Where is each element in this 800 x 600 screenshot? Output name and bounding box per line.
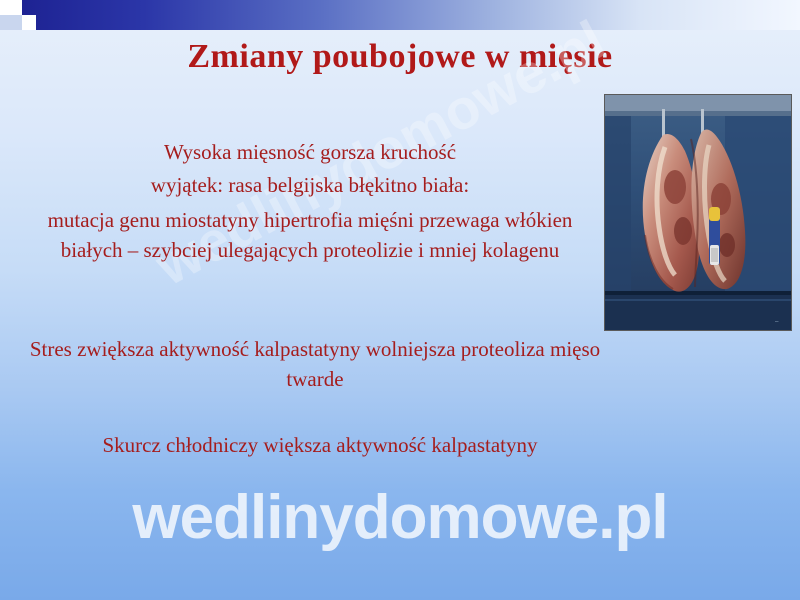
slide-top-decoration-bar: [0, 0, 800, 30]
body-paragraph-3: mutacja genu miostatyny hipertrofia mięś…: [20, 205, 600, 265]
watermark-bottom: wedlinydomowe.pl: [0, 482, 800, 553]
body-paragraph-4: Stres zwiększa aktywność kalpastatyny wo…: [10, 334, 620, 394]
slide-title: Zmiany poubojowe w mięsie: [0, 38, 800, 76]
svg-text:⎯: ⎯: [775, 318, 779, 325]
beef-carcass-photo: ⎯: [604, 94, 792, 331]
decoration-square-white-1: [0, 0, 22, 15]
body-line-1: Wysoka mięsność gorsza kruchość: [20, 137, 600, 167]
slide: Zmiany poubojowe w mięsie wedlinydomowe.…: [0, 0, 800, 600]
decoration-square-shade: [0, 15, 22, 30]
body-line-2: wyjątek: rasa belgijska błękitno biała:: [20, 170, 600, 200]
body-paragraph-5: Skurcz chłodniczy większa aktywność kalp…: [10, 430, 630, 460]
beef-carcass-photo-graphic: ⎯: [605, 95, 791, 330]
decoration-square-white-2: [22, 15, 36, 30]
